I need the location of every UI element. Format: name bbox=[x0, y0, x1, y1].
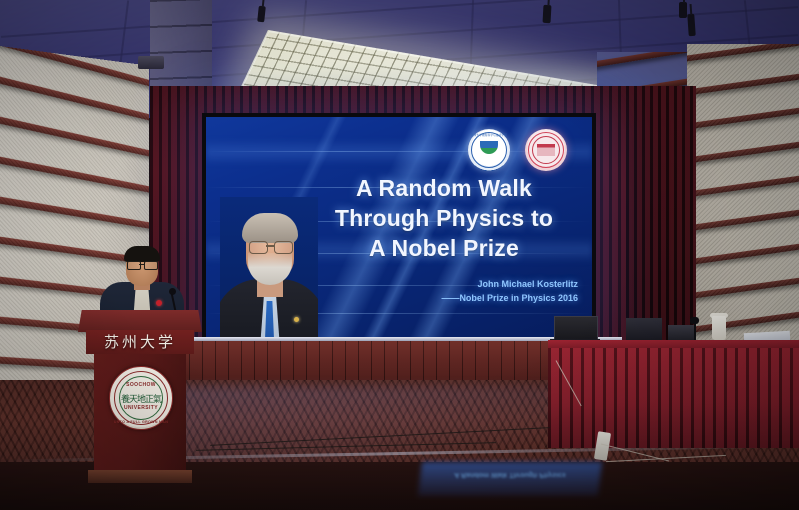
slide-subtitle-name: John Michael Kosterlitz bbox=[477, 279, 578, 289]
slide-floor-reflection-text: A Random Walk Through Physics bbox=[429, 470, 590, 479]
right-acoustic-wall bbox=[687, 44, 799, 374]
lecture-hall-photo: 苏州大学物理科学与技术学院 bbox=[0, 0, 799, 510]
slide-floor-reflection bbox=[418, 462, 602, 496]
speaker-glasses-icon bbox=[127, 261, 141, 270]
podium-microphone-icon bbox=[169, 288, 176, 295]
seal-text-university: UNIVERSITY bbox=[110, 405, 172, 411]
left-institution-logo-icon: 苏州大学物理科学与技术学院 bbox=[468, 129, 510, 171]
table-microphone-stem bbox=[694, 322, 696, 341]
slide-title-line-2: Through Physics to bbox=[298, 203, 590, 233]
control-device[interactable] bbox=[668, 325, 694, 340]
university-seal: SOOCHOW 養天地正氣 UNIVERSITY UNTO A FULL GRO… bbox=[109, 366, 173, 430]
right-institution-logo-icon bbox=[525, 129, 567, 171]
spotlight-2 bbox=[543, 5, 552, 23]
seal-text-motto: UNTO A FULL GROWN MAN bbox=[110, 420, 172, 424]
slide-title-line-1: A Random Walk bbox=[298, 173, 590, 203]
lapel-pin-icon bbox=[294, 317, 299, 322]
presenter-table bbox=[548, 340, 799, 458]
second-laptop[interactable] bbox=[626, 318, 662, 340]
slide-subtitle: John Michael Kosterlitz ——Nobel Prize in… bbox=[358, 277, 578, 305]
thermos-cup[interactable] bbox=[712, 316, 726, 340]
ceiling-speaker-left bbox=[138, 56, 164, 69]
table-microphone-icon[interactable] bbox=[690, 317, 699, 324]
seal-text-soochow: SOOCHOW bbox=[110, 382, 172, 388]
presentation-screen-frame: 苏州大学物理科学与技术学院 bbox=[202, 113, 596, 345]
spotlight-3 bbox=[679, 2, 687, 18]
presentation-slide: 苏州大学物理科学与技术学院 bbox=[206, 117, 592, 341]
left-logo-micro-text: 苏州大学物理科学与技术学院 bbox=[468, 133, 510, 137]
seal-center-cn: 養天地正氣 bbox=[110, 392, 172, 405]
slide-title: A Random Walk Through Physics to A Nobel… bbox=[298, 173, 590, 263]
lectern: 苏州大学 SOOCHOW 養天地正氣 UNIVERSITY UNTO A FUL… bbox=[78, 310, 202, 485]
speaker-badge-icon bbox=[156, 300, 162, 306]
lectern-university-name: 苏州大学 bbox=[86, 330, 194, 354]
slide-title-line-3: A Nobel Prize bbox=[298, 233, 590, 263]
spotlight-4 bbox=[687, 14, 696, 36]
slide-subtitle-award: ——Nobel Prize in Physics 2016 bbox=[358, 291, 578, 305]
